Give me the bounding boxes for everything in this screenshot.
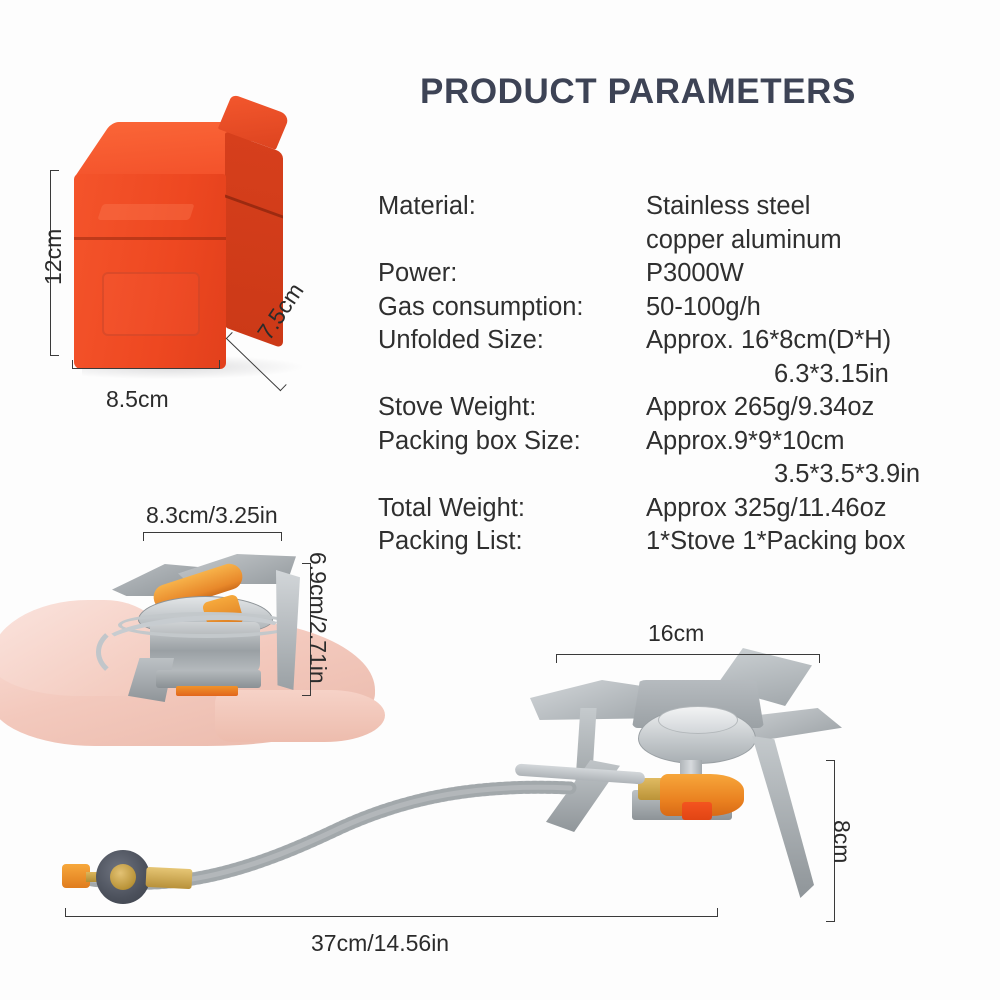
spec-row: Stove Weight: Approx 265g/9.34oz xyxy=(378,391,988,425)
spec-value: Stainless steel xyxy=(646,190,810,224)
box-embossed-panel xyxy=(102,272,200,336)
bracket-folded-width xyxy=(143,532,282,541)
bracket-hose-length xyxy=(65,908,718,917)
dim-label-folded-height: 6.9cm/2.71in xyxy=(304,552,331,684)
spec-value: Approx.9*9*10cm xyxy=(646,425,844,459)
page-title: PRODUCT PARAMETERS xyxy=(420,72,920,112)
stove-knob-tab xyxy=(682,802,712,820)
spec-label: Total Weight: xyxy=(378,492,646,526)
stove-leg-right xyxy=(752,736,814,898)
box-embossed-ridge xyxy=(97,204,194,220)
spec-label: Packing box Size: xyxy=(378,425,646,459)
spec-value: copper aluminum xyxy=(646,224,842,258)
stove-burner-cap xyxy=(658,706,738,734)
dim-label-box-height: 12cm xyxy=(40,229,67,285)
dim-label-folded-width: 8.3cm/3.25in xyxy=(146,502,278,529)
spec-value: 3.5*3.5*3.9in xyxy=(646,458,920,492)
bracket-unfolded-width xyxy=(556,654,820,663)
dim-label-unfolded-height: 8cm xyxy=(828,820,855,863)
product-parameters-page: PRODUCT PARAMETERS 12cm 8.5cm 7.5cm Mate… xyxy=(0,0,1000,1000)
spec-value: 1*Stove 1*Packing box xyxy=(646,525,905,559)
dim-label-hose-length: 37cm/14.56in xyxy=(311,930,449,957)
dim-label-box-width: 8.5cm xyxy=(106,386,169,413)
spec-row: copper aluminum xyxy=(378,224,988,258)
spec-row: Power: P3000W xyxy=(378,257,988,291)
spec-value: P3000W xyxy=(646,257,744,291)
spec-row: Unfolded Size: Approx. 16*8cm(D*H) xyxy=(378,324,988,358)
folded-stove-orange-base xyxy=(176,686,238,696)
bracket-box-width xyxy=(72,360,220,369)
gas-valve-assembly xyxy=(58,848,208,908)
hand-holding-stove-illustration xyxy=(0,540,400,770)
specifications-table: Material: Stainless steel copper aluminu… xyxy=(378,190,988,559)
spec-label: Power: xyxy=(378,257,646,291)
spec-row: Gas consumption: 50-100g/h xyxy=(378,291,988,325)
valve-brass-fitting xyxy=(146,867,193,889)
spec-label: Packing List: xyxy=(378,525,646,559)
spec-value: 50-100g/h xyxy=(646,291,761,325)
spec-value: Approx. 16*8cm(D*H) xyxy=(646,324,891,358)
spec-value: 6.3*3.15in xyxy=(646,358,889,392)
folded-stove-hose-curve xyxy=(96,624,166,680)
dim-label-unfolded-width: 16cm xyxy=(648,620,704,647)
spec-row: 3.5*3.5*3.9in xyxy=(378,458,988,492)
spec-row: Material: Stainless steel xyxy=(378,190,988,224)
spec-label: Gas consumption: xyxy=(378,291,646,325)
spec-row: 6.3*3.15in xyxy=(378,358,988,392)
spec-value: Approx 265g/9.34oz xyxy=(646,391,874,425)
spec-value: Approx 325g/11.46oz xyxy=(646,492,887,526)
fingers xyxy=(215,690,385,742)
spec-label: Material: xyxy=(378,190,646,224)
valve-coupling xyxy=(110,864,136,890)
box-lid-seam xyxy=(74,237,226,240)
spec-row: Total Weight: Approx 325g/11.46oz xyxy=(378,492,988,526)
spec-label: Stove Weight: xyxy=(378,391,646,425)
spec-row: Packing box Size: Approx.9*9*10cm xyxy=(378,425,988,459)
spec-label: Unfolded Size: xyxy=(378,324,646,358)
spec-row: Packing List: 1*Stove 1*Packing box xyxy=(378,525,988,559)
